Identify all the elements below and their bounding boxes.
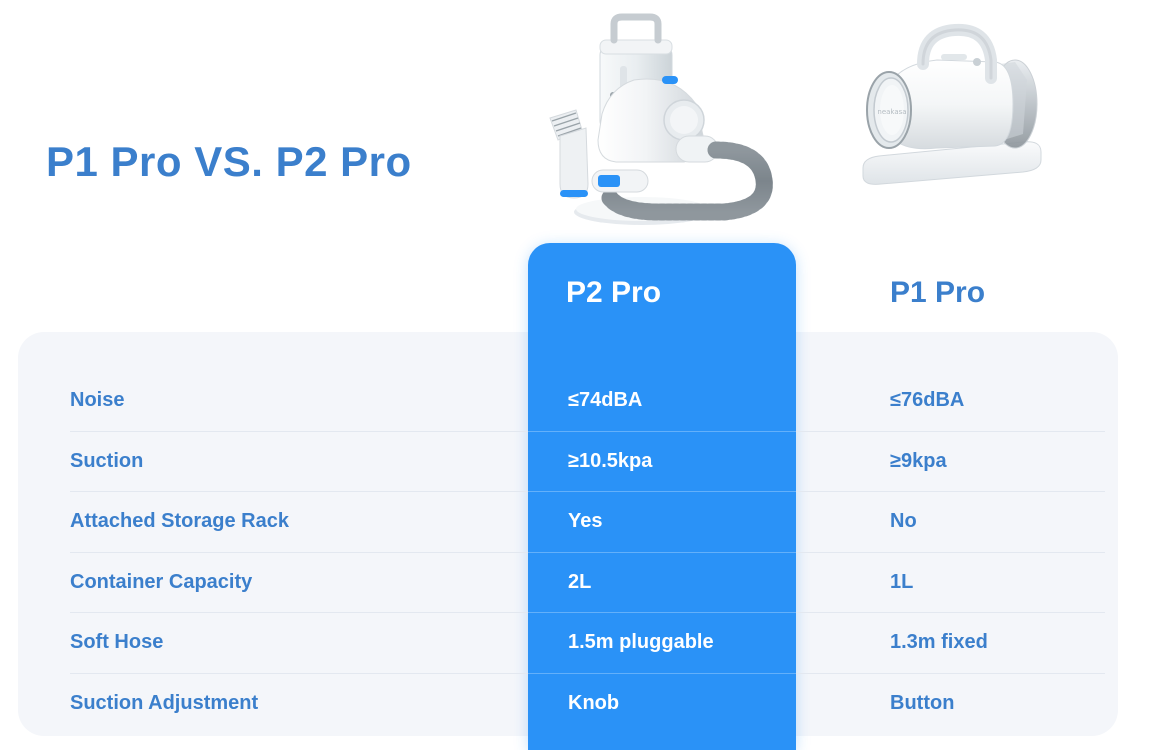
row-value-p1: No: [890, 491, 917, 552]
table-row: Soft Hose 1.5m pluggable 1.3m fixed: [0, 612, 1150, 673]
svg-text:neakasa: neakasa: [877, 108, 906, 116]
row-feature-label: Container Capacity: [70, 552, 252, 613]
row-feature-label: Soft Hose: [70, 612, 163, 673]
row-value-p1: Button: [890, 673, 954, 734]
row-value-p2: ≥10.5kpa: [568, 431, 652, 492]
column-header-p1-pro: P1 Pro: [890, 276, 985, 310]
column-header-p2-pro: P2 Pro: [566, 276, 661, 310]
comparison-rows: Noise ≤74dBA ≤76dBA Suction ≥10.5kpa ≥9k…: [0, 370, 1150, 733]
row-value-p2: ≤74dBA: [568, 370, 642, 431]
row-feature-label: Noise: [70, 370, 124, 431]
page-title-text: P1 Pro VS. P2 Pro: [46, 138, 412, 185]
table-row: Suction Adjustment Knob Button: [0, 673, 1150, 734]
p1-pro-product-image: neakasa: [845, 18, 1063, 200]
row-value-p2: Yes: [568, 491, 602, 552]
row-value-p2: 2L: [568, 552, 591, 613]
table-row: Attached Storage Rack Yes No: [0, 491, 1150, 552]
row-value-p2: Knob: [568, 673, 619, 734]
row-feature-label: Suction: [70, 431, 143, 492]
row-feature-label: Attached Storage Rack: [70, 491, 289, 552]
p2-pro-product-image: [524, 8, 788, 240]
table-row: Noise ≤74dBA ≤76dBA: [0, 370, 1150, 431]
row-value-p1: 1.3m fixed: [890, 612, 988, 673]
table-row: Container Capacity 2L 1L: [0, 552, 1150, 613]
comparison-page: P1 Pro VS. P2 Pro: [0, 0, 1150, 750]
table-row: Suction ≥10.5kpa ≥9kpa: [0, 431, 1150, 492]
row-feature-label: Suction Adjustment: [70, 673, 258, 734]
row-value-p1: 1L: [890, 552, 913, 613]
row-value-p2: 1.5m pluggable: [568, 612, 714, 673]
row-value-p1: ≥9kpa: [890, 431, 947, 492]
page-title: P1 Pro VS. P2 Pro: [46, 138, 412, 186]
row-value-p1: ≤76dBA: [890, 370, 964, 431]
